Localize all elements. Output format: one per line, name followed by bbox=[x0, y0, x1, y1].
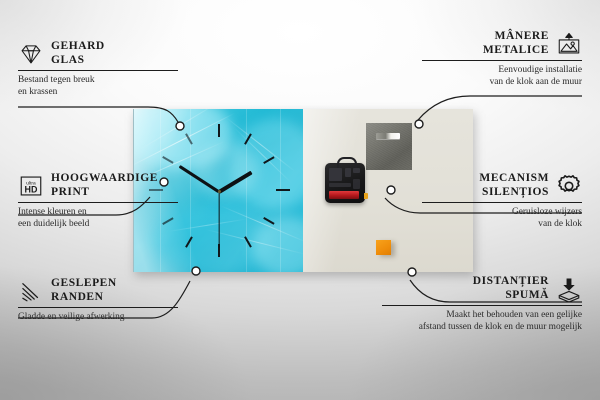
callout-title: DISTANȚIERSPUMĂ bbox=[473, 275, 549, 302]
foam-spacer bbox=[376, 240, 391, 255]
clock-tick-11 bbox=[185, 133, 192, 144]
clock-second-hand bbox=[218, 192, 219, 248]
callout-description: Gladde en veilige afwerking bbox=[18, 312, 178, 324]
callout-rule bbox=[422, 202, 582, 203]
battery-positive-tip bbox=[364, 193, 368, 199]
infographic-canvas: GEHARDGLAS Bestand tegen breuken krassen… bbox=[0, 0, 600, 400]
spacer-foam-icon bbox=[556, 276, 582, 302]
callout-title: HOOGWAARDIGEPRINT bbox=[51, 172, 158, 199]
clock-tick-4 bbox=[263, 217, 274, 224]
hanger-slot bbox=[376, 133, 400, 139]
picture-frame-hook-icon bbox=[556, 31, 582, 57]
callout-header: GEHARDGLAS bbox=[18, 40, 178, 67]
callout-title: GEHARDGLAS bbox=[51, 40, 105, 67]
callout-header: ultra HD HOOGWAARDIGEPRINT bbox=[18, 172, 178, 199]
clock-tick-12 bbox=[218, 124, 220, 137]
beveled-edges-icon bbox=[18, 278, 44, 304]
clock-minute-hand bbox=[179, 165, 220, 193]
callout-rule bbox=[18, 307, 178, 308]
mechanism-hanging-loop bbox=[337, 157, 357, 168]
callout-hoogwaardige-print[interactable]: ultra HD HOOGWAARDIGEPRINT Intense kleur… bbox=[18, 172, 178, 230]
clock-tick-7 bbox=[185, 236, 192, 247]
clock-tick-2 bbox=[263, 156, 274, 163]
callout-header: MÂNEREMETALICE bbox=[422, 30, 582, 57]
callout-title: GESLEPENRANDEN bbox=[51, 277, 117, 304]
gear-icon bbox=[556, 173, 582, 199]
callout-geslepen-randen[interactable]: GESLEPENRANDEN Gladde en veilige afwerki… bbox=[18, 277, 178, 324]
callout-header: MECANISMSILENȚIOS bbox=[422, 172, 582, 199]
clock-tick-3 bbox=[276, 189, 290, 191]
metal-hanger-plate bbox=[366, 123, 412, 170]
clock-hour-hand bbox=[218, 171, 253, 194]
clock-center-hub bbox=[218, 190, 221, 193]
ultra-hd-icon: ultra HD bbox=[18, 173, 44, 199]
callout-title: MECANISMSILENȚIOS bbox=[479, 172, 549, 199]
callout-manere-metalice[interactable]: MÂNEREMETALICE Eenvoudige installatievan… bbox=[422, 30, 582, 88]
callout-rule bbox=[18, 70, 178, 71]
callout-gehard-glas[interactable]: GEHARDGLAS Bestand tegen breuken krassen bbox=[18, 40, 178, 98]
callout-distantier-spuma[interactable]: DISTANȚIERSPUMĂ Maakt het behouden van e… bbox=[382, 275, 582, 333]
callout-title: MÂNEREMETALICE bbox=[483, 30, 549, 57]
callout-description: Geruisloze wijzersvan de klok bbox=[422, 207, 582, 230]
callout-description: Bestand tegen breuken krassen bbox=[18, 75, 178, 98]
callout-rule bbox=[382, 305, 582, 306]
clock-tick-10 bbox=[162, 156, 173, 163]
callout-mecanism-silentios[interactable]: MECANISMSILENȚIOS Geruisloze wijzersvan … bbox=[422, 172, 582, 230]
clock-mechanism-box bbox=[325, 163, 365, 203]
callout-description: Maakt het behouden van een gelijkeafstan… bbox=[382, 310, 582, 333]
diamond-icon bbox=[18, 41, 44, 67]
callout-description: Intense kleuren eneen duidelijk beeld bbox=[18, 207, 178, 230]
callout-description: Eenvoudige installatievan de klok aan de… bbox=[422, 65, 582, 88]
callout-rule bbox=[422, 60, 582, 61]
clock-battery bbox=[329, 191, 359, 199]
callout-rule bbox=[18, 202, 178, 203]
callout-header: DISTANȚIERSPUMĂ bbox=[382, 275, 582, 302]
svg-text:HD: HD bbox=[25, 184, 38, 194]
callout-header: GESLEPENRANDEN bbox=[18, 277, 178, 304]
